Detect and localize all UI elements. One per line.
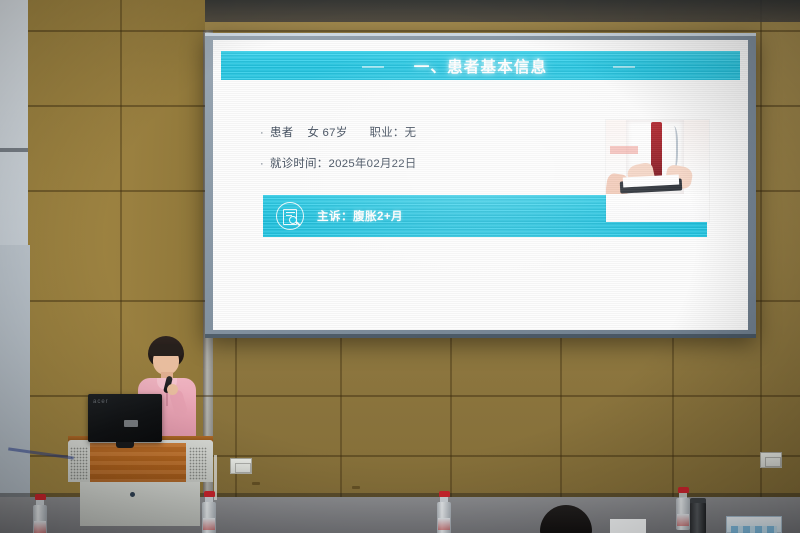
title-dash-left-icon: [362, 66, 384, 68]
name-card-sign: [726, 516, 782, 533]
paper-sheet: [610, 519, 646, 533]
wall-grid-line: [28, 30, 800, 32]
doctor-clipboard-photo: [606, 120, 709, 222]
wall-grid-line: [672, 338, 674, 497]
document-search-icon: [276, 202, 304, 230]
wall-grid-line: [450, 338, 452, 497]
podium-speaker-grille: [70, 447, 88, 480]
podium-speaker-grille: [189, 447, 207, 480]
monitor-screen-glare: [124, 420, 138, 427]
water-bottle: [202, 491, 216, 533]
bullet-segment: 女 67岁: [293, 124, 347, 140]
title-dash-right-icon: [613, 66, 635, 68]
podium-monitor[interactable]: acer: [88, 394, 162, 442]
wall-outlet[interactable]: [230, 458, 252, 474]
water-bottle: [676, 487, 690, 530]
wall-grid-line: [560, 338, 562, 497]
projection-screen: 一、患者基本信息 · 患者 女 67岁 职业：无 · 就诊时间：2025年02月…: [205, 33, 756, 338]
screen-bezel-shadow: [205, 334, 756, 338]
monitor-stand: [116, 442, 134, 448]
wall-grid-line: [760, 0, 762, 497]
bullet-segment: 就诊时间：2025年02月22日: [270, 155, 417, 171]
wall-scuff: [352, 486, 360, 489]
list-item: · 就诊时间：2025年02月22日: [260, 155, 417, 171]
podium-indicator-light: [130, 492, 135, 497]
screen-bezel-highlight: [205, 33, 756, 36]
list-item: · 患者 女 67岁 职业：无: [260, 124, 417, 140]
water-bottle: [33, 494, 47, 533]
side-wall-trim: [0, 148, 28, 152]
podium-base: [80, 482, 200, 526]
water-bottle: [437, 491, 451, 533]
bullet-marker-icon: ·: [260, 128, 270, 139]
bullet-marker-icon: ·: [260, 159, 270, 170]
wall-scuff: [252, 482, 260, 485]
slide-title: 一、患者基本信息: [414, 55, 548, 77]
chief-complaint-text: 主诉：腹胀2+月: [317, 208, 403, 224]
podium-wood-panel: [90, 443, 186, 483]
bullet-segment: 职业：无: [348, 124, 417, 140]
wall-outlet[interactable]: [760, 452, 782, 468]
monitor-brand-label: acer: [93, 399, 109, 405]
lecture-hall-scene: 一、患者基本信息 · 患者 女 67岁 职业：无 · 就诊时间：2025年02月…: [0, 0, 800, 533]
wall-grid-line: [340, 338, 342, 497]
card-sign-graphic: [731, 526, 777, 533]
thermos-flask: [690, 502, 706, 533]
slide-bullet-list: · 患者 女 67岁 职业：无 · 就诊时间：2025年02月22日: [260, 124, 417, 186]
side-wall-lower: [0, 245, 30, 533]
slide-title-bar: 一、患者基本信息: [221, 51, 740, 80]
ceiling-band: [205, 0, 800, 22]
bullet-segment: 患者: [270, 124, 293, 140]
presentation-slide: 一、患者基本信息 · 患者 女 67岁 职业：无 · 就诊时间：2025年02月…: [213, 40, 748, 330]
